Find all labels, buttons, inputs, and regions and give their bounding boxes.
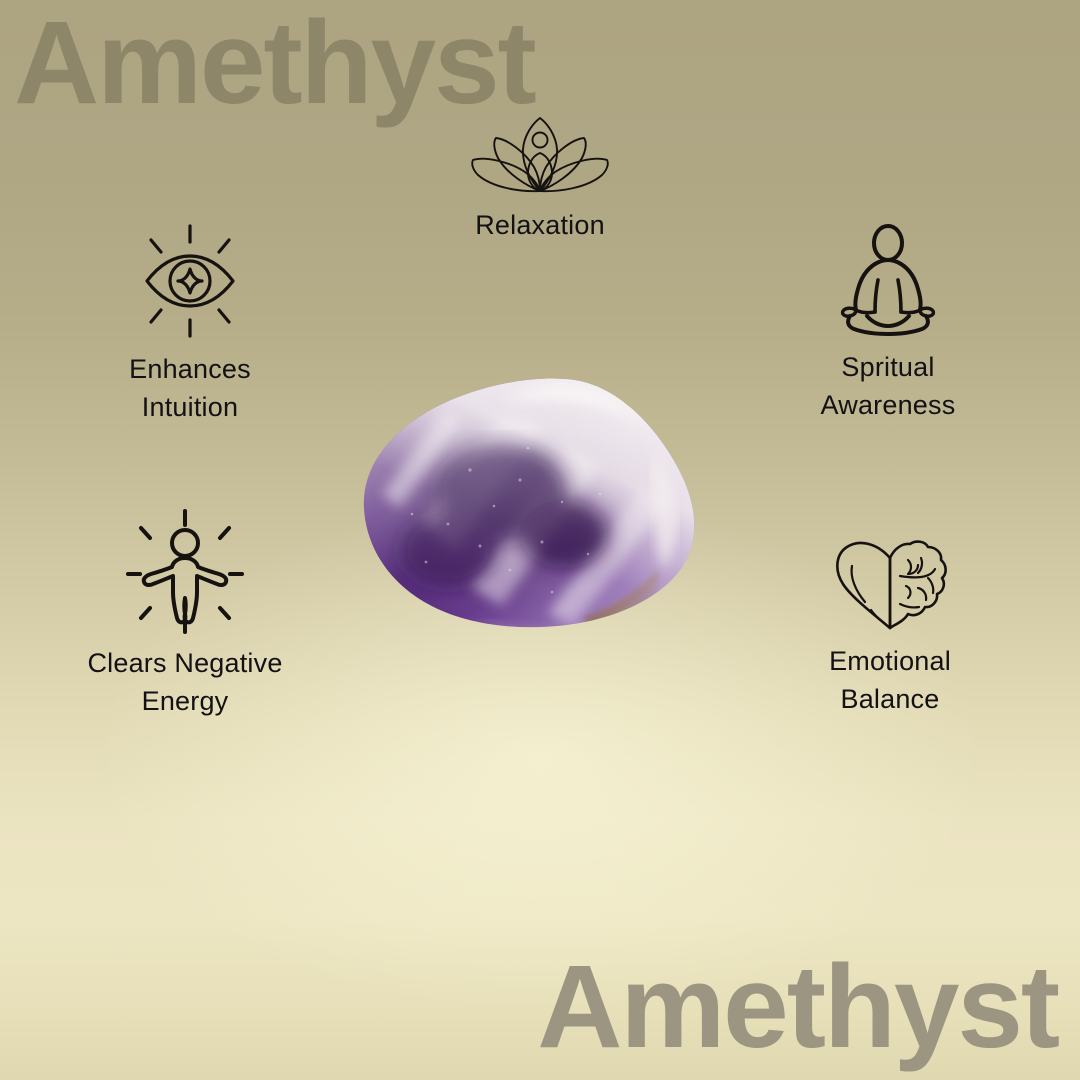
- benefit-spiritual-awareness: Spritual Awareness: [758, 220, 1018, 425]
- benefit-emotional-balance: Emotional Balance: [760, 528, 1020, 719]
- page-title-bottom: Amethyst: [537, 948, 1058, 1066]
- radiant-eye-icon: [125, 222, 255, 340]
- amethyst-benefits-poster: Amethyst Relaxation: [0, 0, 1080, 1080]
- lotus-meditation-icon: [465, 112, 615, 202]
- radiant-standing-person-icon: [118, 508, 252, 634]
- benefit-label: Spritual Awareness: [821, 348, 956, 425]
- page-title-top: Amethyst: [14, 4, 535, 122]
- benefit-label: Enhances Intuition: [129, 350, 251, 427]
- heart-brain-icon: [828, 528, 952, 632]
- benefit-label: Emotional Balance: [829, 642, 951, 719]
- benefit-enhances-intuition: Enhances Intuition: [60, 222, 320, 427]
- meditating-person-icon: [823, 220, 953, 338]
- benefit-label: Relaxation: [475, 206, 605, 244]
- amethyst-stone-image: [352, 374, 708, 660]
- benefit-label: Clears Negative Energy: [87, 644, 282, 721]
- benefit-relaxation: Relaxation: [410, 112, 670, 244]
- benefit-clears-negative-energy: Clears Negative Energy: [55, 508, 315, 721]
